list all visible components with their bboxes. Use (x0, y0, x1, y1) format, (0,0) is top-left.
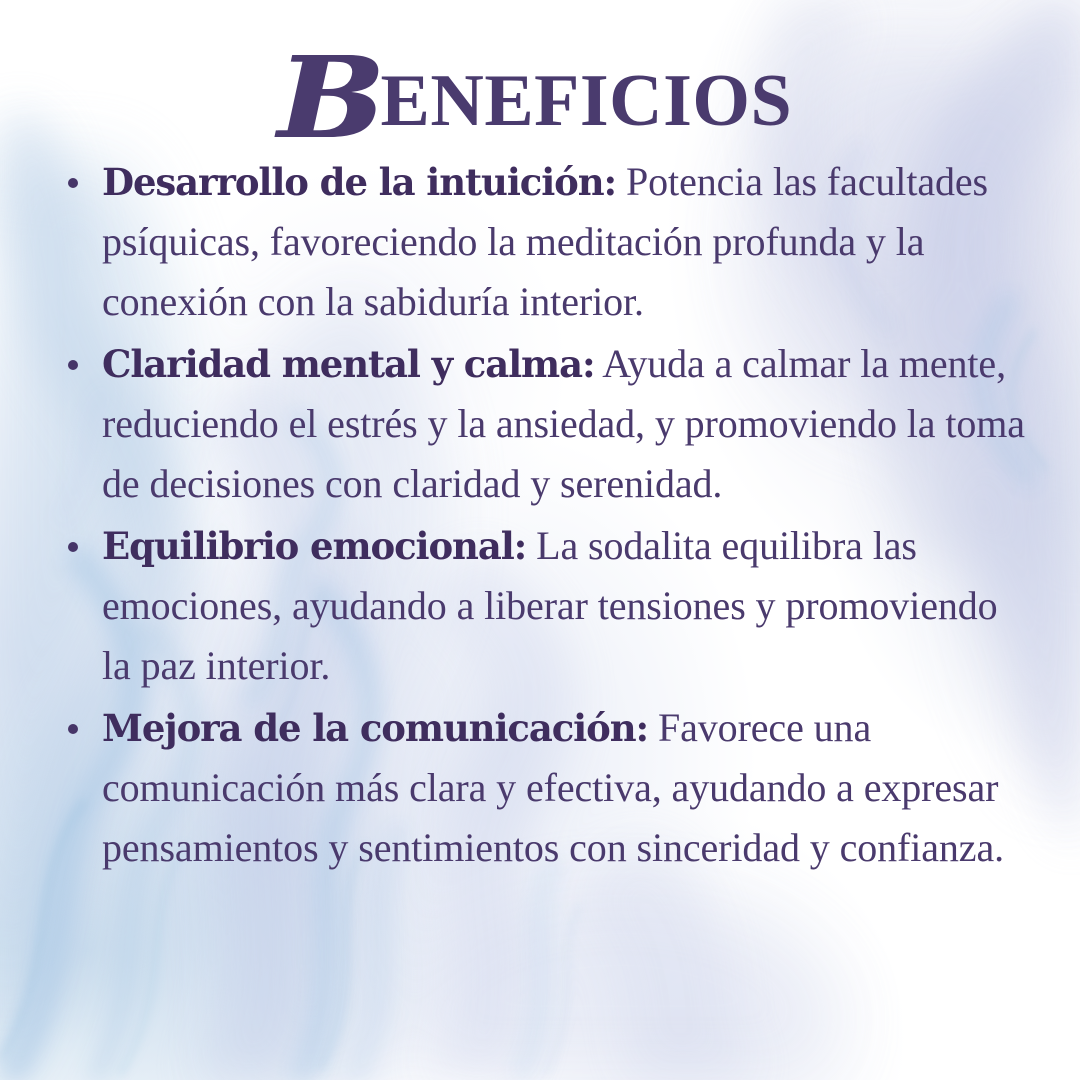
benefits-list: Desarrollo de la intuición: Potencia las… (58, 152, 1034, 880)
list-item: Mejora de la comunicación: Favorece una … (58, 698, 1034, 878)
benefit-lead: Claridad mental y calma: (102, 342, 595, 386)
benefit-lead: Equilibrio emocional: (102, 524, 526, 568)
page-title: BENEFICIOS (0, 43, 1080, 155)
title-dropcap: B (277, 43, 376, 155)
benefit-lead: Mejora de la comunicación: (102, 706, 648, 750)
list-item: Claridad mental y calma: Ayuda a calmar … (58, 334, 1034, 514)
title-rest: ENEFICIOS (381, 60, 793, 142)
poster-canvas: BENEFICIOS Desarrollo de la intuición: P… (0, 0, 1080, 1080)
benefit-lead: Desarrollo de la intuición: (102, 160, 616, 204)
list-item: Desarrollo de la intuición: Potencia las… (58, 152, 1034, 332)
list-item: Equilibrio emocional: La sodalita equili… (58, 516, 1034, 696)
content-area: BENEFICIOS Desarrollo de la intuición: P… (0, 0, 1080, 1080)
